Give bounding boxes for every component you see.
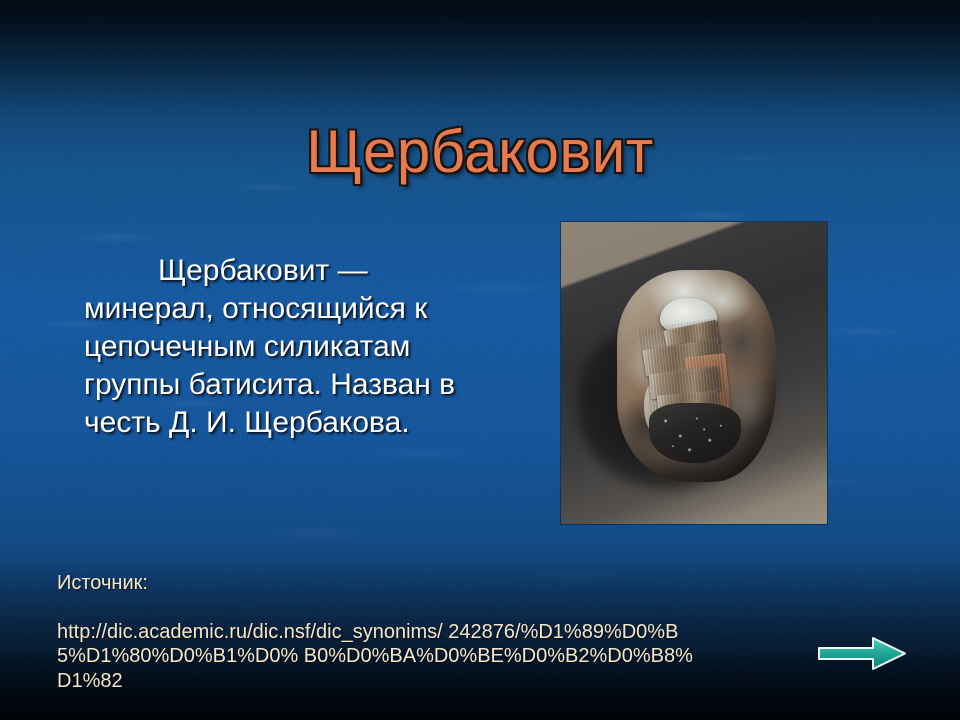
- mineral-photo: [561, 222, 827, 524]
- presentation-slide: Щербаковит Щербаковит — минерал, относящ…: [0, 0, 960, 720]
- arrow-right-icon[interactable]: [817, 636, 907, 671]
- source-url: http://dic.academic.ru/dic.nsf/dic_synon…: [57, 620, 697, 694]
- next-slide-arrow[interactable]: [817, 636, 907, 671]
- mineral-specimen: [617, 270, 777, 481]
- slide-title: Щербаковит: [0, 118, 960, 186]
- slide-body-text: Щербаковит — минерал, относящийся к цепо…: [84, 252, 484, 442]
- source-citation: Источник: http://dic.academic.ru/dic.nsf…: [57, 546, 697, 718]
- source-label: Источник:: [57, 571, 697, 596]
- specimen-dark-crust: [649, 403, 742, 462]
- mineral-photo-image: [561, 222, 827, 524]
